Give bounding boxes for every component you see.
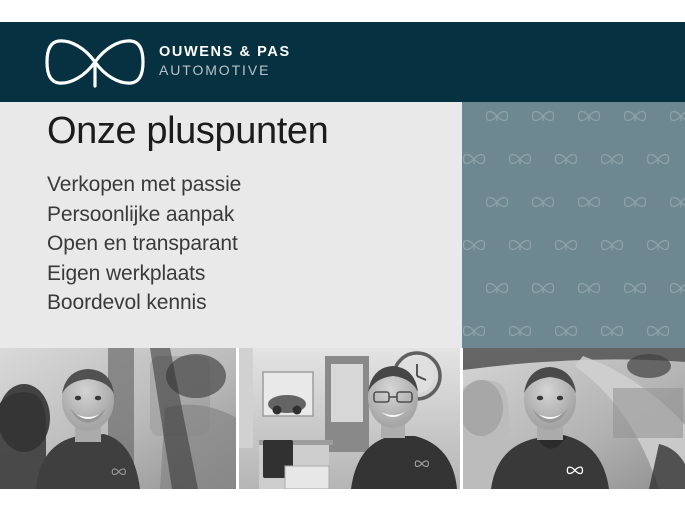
photo-advisor-in-showroom [239,348,460,489]
teal-pattern-panel [462,102,685,348]
photo-driver-in-car [463,348,685,489]
list-item: Boordevol kennis [47,288,241,318]
footer-spacer [0,489,685,514]
photo-strip [0,348,685,489]
content-band: Onze pluspunten Verkopen met passie Pers… [0,102,685,348]
message-panel: Onze pluspunten Verkopen met passie Pers… [0,102,462,348]
page-title: Onze pluspunten [47,110,328,153]
brand-wordmark: OUWENS & PAS AUTOMOTIVE [159,45,291,78]
list-item: Open en transparant [47,229,241,259]
bowtie-infinity-logo-icon [45,36,145,88]
brand-header: OUWENS & PAS AUTOMOTIVE [0,22,685,102]
list-item: Eigen werkplaats [47,259,241,289]
brand-subtitle: AUTOMOTIVE [159,63,291,78]
benefits-list: Verkopen met passie Persoonlijke aanpak … [47,170,241,318]
list-item: Verkopen met passie [47,170,241,200]
list-item: Persoonlijke aanpak [47,200,241,230]
bowtie-logo-pattern-icon [462,102,685,348]
advertisement-banner[interactable]: OUWENS & PAS AUTOMOTIVE Onze pluspunten … [0,0,685,514]
brand-name: OUWENS & PAS [159,45,291,61]
photo-mechanic-in-car [0,348,236,489]
